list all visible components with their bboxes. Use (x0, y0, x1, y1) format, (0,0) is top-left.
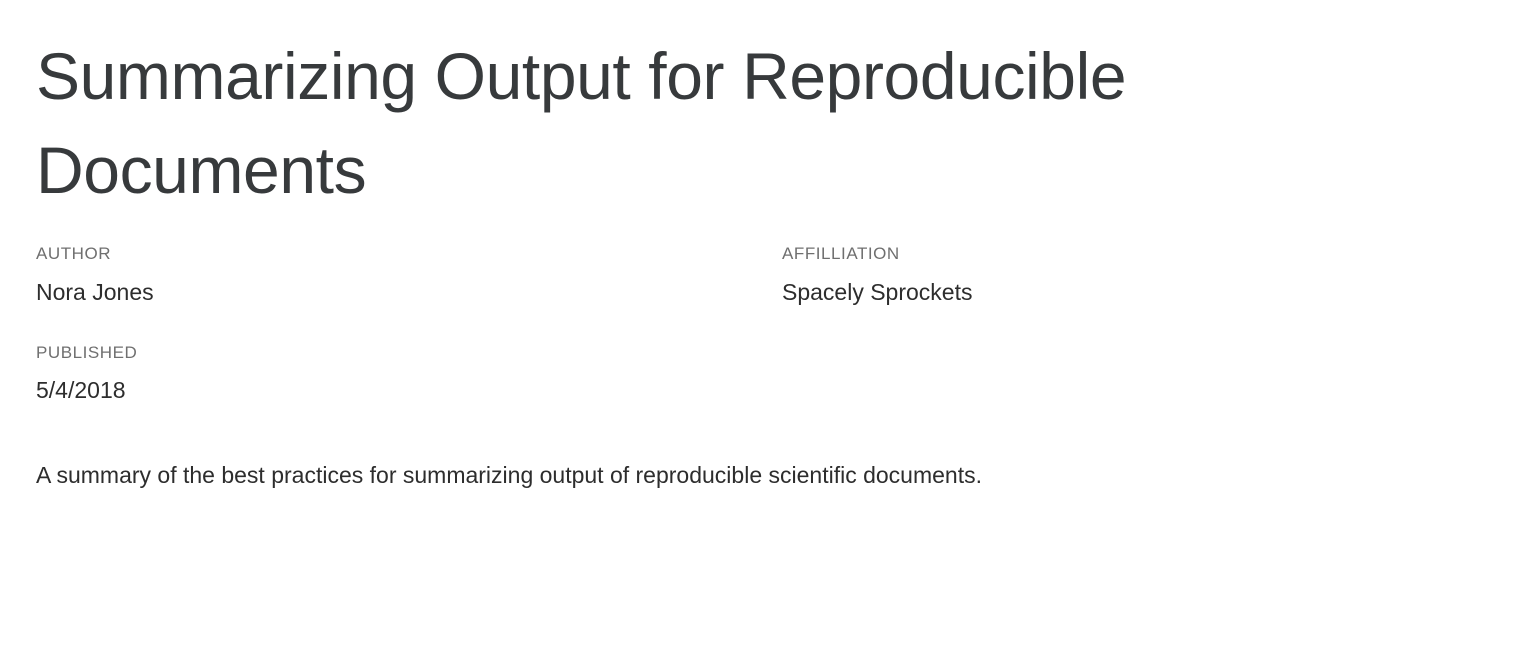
document-abstract: A summary of the best practices for summ… (36, 458, 1436, 494)
metadata-value-affilliation: Spacely Sprockets (782, 277, 1528, 308)
metadata-label-published: PUBLISHED (36, 342, 782, 364)
document-metadata: AUTHOR Nora Jones AFFILLIATION Spacely S… (36, 243, 1492, 405)
metadata-field-author: AUTHOR Nora Jones (36, 243, 782, 307)
page-title: Summarizing Output for Reproducible Docu… (36, 30, 1326, 217)
title-block-header: Summarizing Output for Reproducible Docu… (36, 0, 1492, 493)
metadata-label-affilliation: AFFILLIATION (782, 243, 1528, 265)
metadata-value-published: 5/4/2018 (36, 375, 782, 406)
metadata-field-published: PUBLISHED 5/4/2018 (36, 342, 782, 406)
metadata-value-author: Nora Jones (36, 277, 782, 308)
metadata-label-author: AUTHOR (36, 243, 782, 265)
metadata-field-affilliation: AFFILLIATION Spacely Sprockets (782, 243, 1528, 307)
document-page: Summarizing Output for Reproducible Docu… (0, 0, 1528, 656)
